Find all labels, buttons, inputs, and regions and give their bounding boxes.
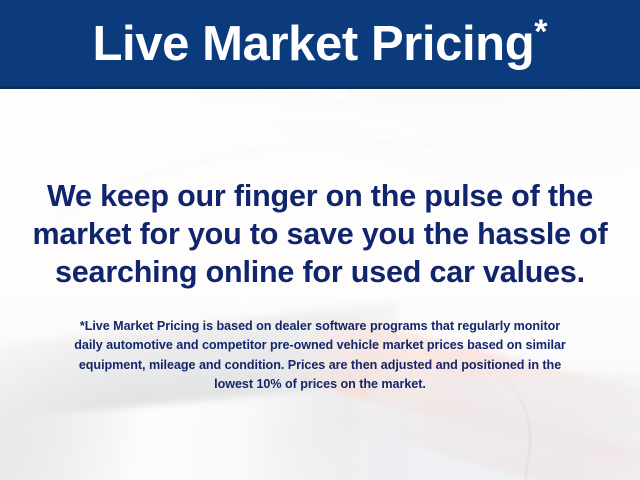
header-bar: Live Market Pricing*: [0, 0, 640, 89]
disclaimer-line-1: *Live Market Pricing is based on dealer …: [26, 317, 614, 336]
live-market-pricing-banner: Live Market Pricing* We keep our finger …: [0, 0, 640, 480]
disclaimer-line-3: equipment, mileage and condition. Prices…: [26, 356, 614, 375]
page-title: Live Market Pricing*: [93, 15, 548, 71]
headline-line-1: We keep our finger on the pulse of the: [26, 177, 614, 215]
disclaimer-line-4: lowest 10% of prices on the market.: [26, 375, 614, 394]
headline-line-3: searching online for used car values.: [26, 253, 614, 291]
disclaimer-block: *Live Market Pricing is based on dealer …: [26, 317, 614, 394]
page-title-asterisk: *: [534, 13, 547, 51]
content-area: We keep our finger on the pulse of the m…: [0, 89, 640, 480]
headline-block: We keep our finger on the pulse of the m…: [26, 177, 614, 291]
headline-line-2: market for you to save you the hassle of: [26, 215, 614, 253]
page-title-text: Live Market Pricing: [93, 17, 535, 71]
disclaimer-line-2: daily automotive and competitor pre-owne…: [26, 336, 614, 355]
